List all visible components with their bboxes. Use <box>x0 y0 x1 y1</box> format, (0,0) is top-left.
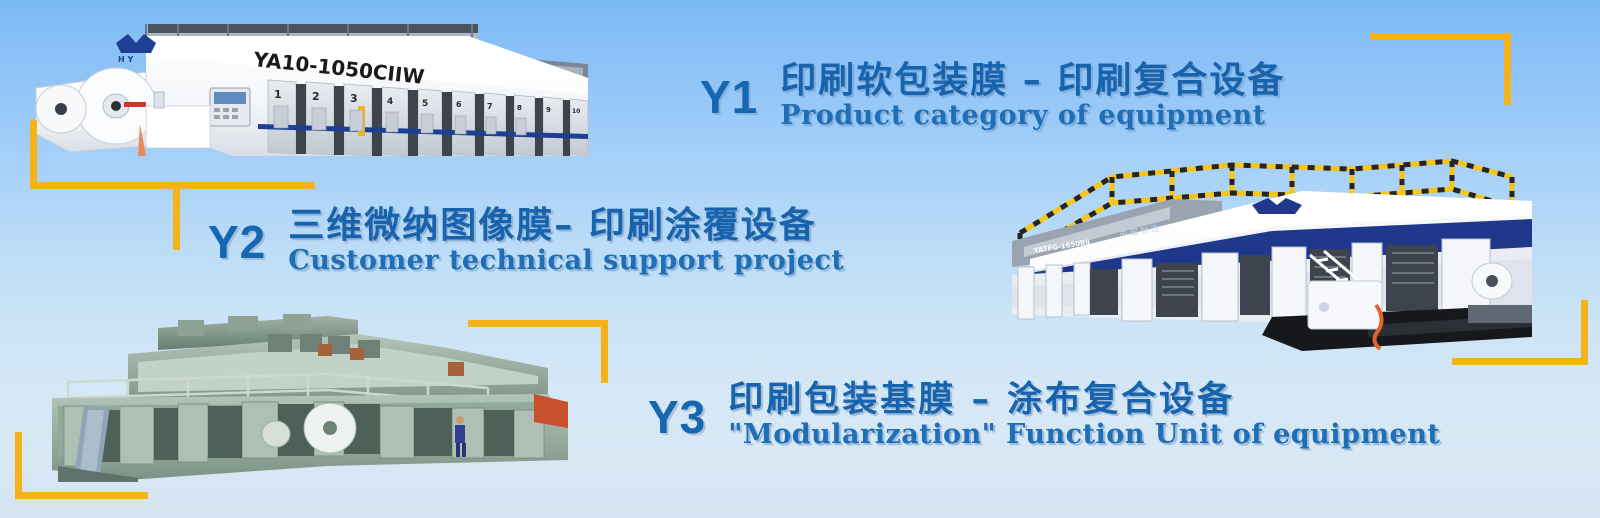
y3-lines: 印刷包装基膜 – 涂布复合设备 "Modularization" Functio… <box>728 382 1440 449</box>
y2-english-subtitle: Customer technical support project <box>288 247 844 275</box>
y3-chinese-title: 印刷包装基膜 – 涂布复合设备 <box>728 382 1440 420</box>
bracket-mid-right-horizontal <box>468 320 608 327</box>
press-unit-number: 10 <box>572 108 580 115</box>
paper-coater-illustration <box>28 310 580 482</box>
bracket-upper-left-vertical <box>30 120 37 189</box>
bracket-mid-right-vertical <box>601 320 608 383</box>
press-unit-number: 1 <box>274 88 282 101</box>
press-unit-number: 7 <box>487 102 493 111</box>
bracket-lower-right-vertical <box>1581 300 1588 365</box>
y1-label: Y1 <box>700 74 758 120</box>
machine-rotogravure-printing-press: YA10-1050CIIW H Y <box>28 6 618 186</box>
text-block-y1: Y1 印刷软包装膜 – 印刷复合设备 Product category of e… <box>700 62 1285 130</box>
bracket-lower-right-horizontal <box>1452 358 1588 365</box>
y3-english-subtitle: "Modularization" Function Unit of equipm… <box>728 421 1440 449</box>
bracket-lower-left-horizontal <box>15 492 148 499</box>
y1-lines: 印刷软包装膜 – 印刷复合设备 Product category of equi… <box>780 62 1285 130</box>
machine-coating-laminating-machine: YATFG-1650BⅡ 中 国 制 造 <box>972 155 1540 360</box>
press-unit-number: 8 <box>517 104 522 112</box>
machine-paper-coating-production-line <box>28 310 580 482</box>
press-unit-number: 3 <box>350 92 358 105</box>
y2-label: Y2 <box>208 219 266 265</box>
bracket-lower-left-vertical <box>15 432 22 499</box>
y1-chinese-title: 印刷软包装膜 – 印刷复合设备 <box>780 62 1285 101</box>
banner-root: YA10-1050CIIW H Y <box>0 0 1600 518</box>
bracket-upper-right-vertical <box>1504 33 1511 105</box>
text-block-y3: Y3 印刷包装基膜 – 涂布复合设备 "Modularization" Func… <box>648 382 1440 449</box>
bracket-upper-right-horizontal <box>1370 33 1511 40</box>
svg-text:H Y: H Y <box>118 55 133 64</box>
y2-lines: 三维微纳图像膜– 印刷涂覆设备 Customer technical suppo… <box>288 207 844 275</box>
press-unit-number: 4 <box>387 97 393 107</box>
coater-illustration: YATFG-1650BⅡ 中 国 制 造 <box>972 155 1540 360</box>
y2-chinese-title: 三维微纳图像膜– 印刷涂覆设备 <box>288 207 844 246</box>
bracket-mid-left-horizontal <box>173 182 315 189</box>
bracket-upper-left-horizontal <box>30 182 175 189</box>
text-block-y2: Y2 三维微纳图像膜– 印刷涂覆设备 Customer technical su… <box>208 207 844 275</box>
press-unit-number: 9 <box>546 106 551 114</box>
gravure-press-illustration: YA10-1050CIIW H Y <box>28 6 618 186</box>
press-unit-number: 2 <box>312 90 320 103</box>
bracket-mid-left-vertical <box>173 182 180 250</box>
press-unit-number: 5 <box>422 99 428 109</box>
y1-english-subtitle: Product category of equipment <box>780 102 1285 130</box>
y3-label: Y3 <box>648 394 706 440</box>
press-unit-number: 6 <box>456 100 462 109</box>
